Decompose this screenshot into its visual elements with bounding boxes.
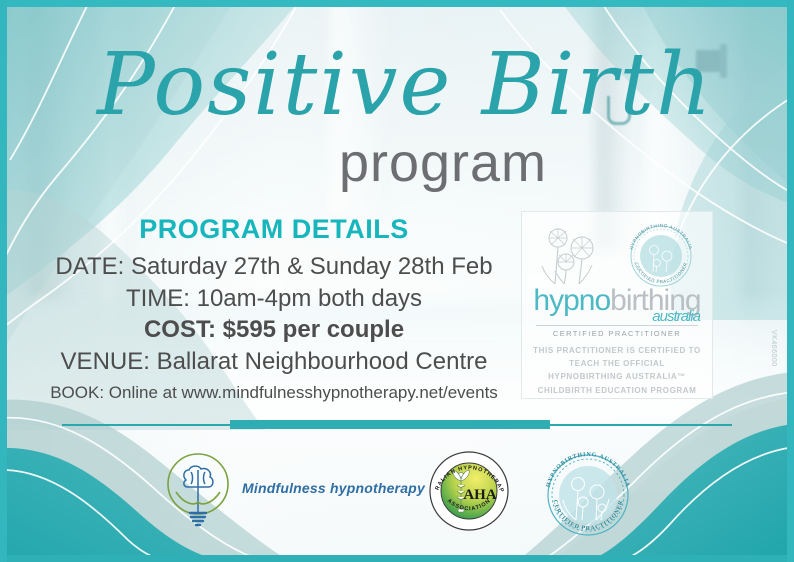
lightbulb-brain-icon xyxy=(160,450,236,530)
section-divider xyxy=(62,420,732,430)
certificate-practitioner-label: CERTIFIED PRACTITIONER xyxy=(536,325,698,338)
detail-row-book[interactable]: BOOK: Online at www.mindfulnesshypnother… xyxy=(34,382,514,404)
logo-mindfulness-hypnotherapy: Mindfulness hypnotherapy xyxy=(160,450,410,530)
frame-bottom xyxy=(0,555,794,562)
logo-mindfulness-label: Mindfulness hypnotherapy xyxy=(242,480,425,496)
logo-hypnobirthing-seal: HYPNOBIRTHING AUSTRALIA CERTIFIED PRACTI… xyxy=(540,448,636,540)
poster-canvas: Positive Birth program PROGRAM DETAILS D… xyxy=(0,0,794,562)
hypnobirthing-wordmark: hypnobirthing australia xyxy=(530,286,704,324)
poster-subtitle: program xyxy=(0,132,794,194)
certificate-body-line-3: HYPNOBIRTHING AUSTRALIA™ xyxy=(530,370,704,383)
watermark-code: VK466000 xyxy=(770,330,777,367)
frame-top xyxy=(0,0,794,7)
detail-row-cost: COST: $595 per couple xyxy=(34,314,514,346)
hypnobirthing-certificate-card: HYPNOBIRTHING AUSTRALIA CERTIFIED PRACTI… xyxy=(521,211,713,399)
logo-aha-badge: AHA AUSTRALIAN HYPNOTHERAPISTS ASSOCIATI… xyxy=(428,447,510,533)
hypnobirthing-seal-icon: HYPNOBIRTHING AUSTRALIA CERTIFIED PRACTI… xyxy=(624,220,698,290)
aha-center-text: AHA xyxy=(463,487,497,503)
certificate-body-line-4: CHILDBIRTH EDUCATION PROGRAM xyxy=(530,384,704,397)
program-details-block: PROGRAM DETAILS DATE: Saturday 27th & Su… xyxy=(34,214,514,404)
detail-row-date: DATE: Saturday 27th & Sunday 28th Feb xyxy=(34,251,514,283)
program-details-title: PROGRAM DETAILS xyxy=(34,214,514,245)
poster-script-title: Positive Birth xyxy=(95,35,707,135)
certificate-body-text: THIS PRACTITIONER IS CERTIFIED TO TEACH … xyxy=(530,344,704,397)
dandelion-illustration-icon xyxy=(538,222,616,288)
detail-row-time: TIME: 10am-4pm both days xyxy=(34,283,514,315)
certificate-body-line-2: TEACH THE OFFICIAL xyxy=(530,357,704,370)
detail-row-venue: VENUE: Ballarat Neighbourhood Centre xyxy=(34,346,514,378)
certificate-body-line-1: THIS PRACTITIONER IS CERTIFIED TO xyxy=(530,344,704,357)
